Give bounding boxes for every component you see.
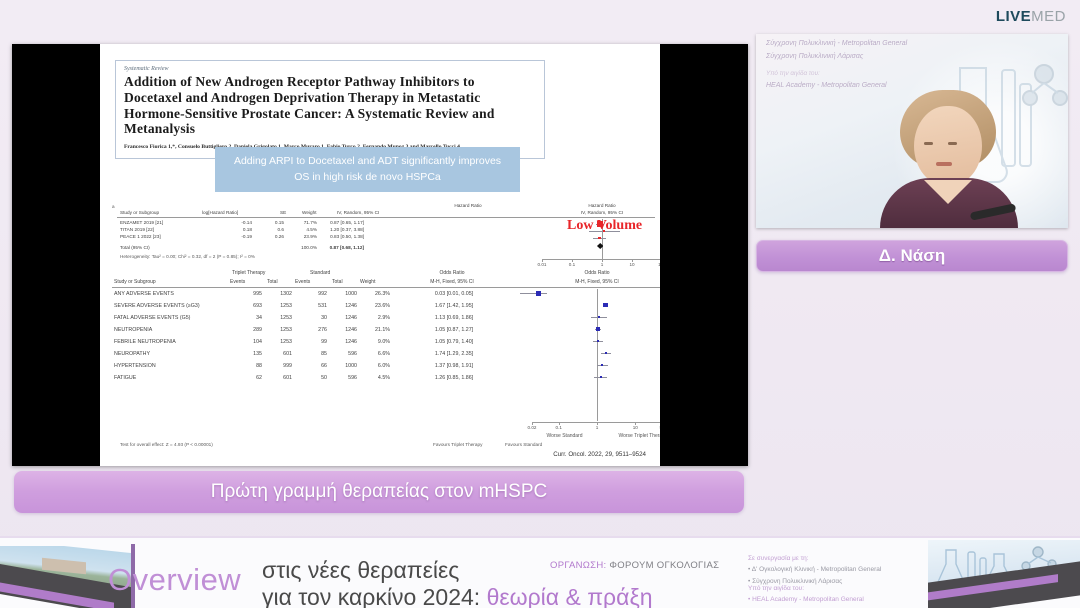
video-overlay-text: Σύγχρονη Πολυκλινική - Metropolitan Gene…	[766, 38, 907, 92]
fp2-col-head-study: Study or Subgroup	[114, 279, 156, 285]
footer-organizer-label: ΟΡΓΑΝΩΣΗ:	[550, 560, 609, 571]
fp2-cell-label: ANY ADVERSE EVENTS	[114, 291, 174, 297]
fp1-total-ci: 0.87 [0.68, 1.12]	[304, 245, 364, 250]
fp1-col-head-se: SE	[280, 210, 286, 215]
low-volume-annotation: Low Volume	[567, 218, 642, 234]
fp2-col-head-total1: Total	[267, 279, 278, 285]
fp2-col-head-events1: Events	[230, 279, 245, 285]
fp1-axis-tick-label: 10	[629, 262, 634, 267]
overlay-line-0: Σύγχρονη Πολυκλινική - Metropolitan Gene…	[766, 38, 907, 51]
speaker-mouth	[936, 162, 952, 166]
footer-line2-a: για τον καρκίνο 2024:	[262, 584, 487, 608]
fp1-row: TITAN 2019 [22]0.180.64.5%1.20 [0.37, 3.…	[112, 227, 412, 234]
fp2-plot-head-ci: M-H, Fixed, 95% CI	[532, 279, 660, 285]
fp1-cell-label: ENZAMET 2019 [21]	[120, 220, 163, 225]
fp2-marker	[596, 327, 600, 331]
fp2-marker	[605, 352, 607, 354]
fp2-cell-label: FATIGUE	[114, 375, 136, 381]
fp1-cell-label: TITAN 2019 [22]	[120, 227, 154, 232]
fp1-col-head-loghr: log[Hazard Ratio]	[202, 210, 238, 215]
fp2-marker	[536, 291, 541, 296]
overlay-line-2: Υπό την αιγίδα του:	[766, 68, 907, 80]
fp2-cell-ci: 0.03 [0.01, 0.05]	[404, 291, 504, 297]
livemed-logo: LIVEMED	[996, 8, 1066, 25]
speaker-eye-right	[948, 142, 957, 145]
fp2-col-head-measure: Odds Ratio	[402, 270, 502, 276]
footer-banner: Overview στις νέες θεραπείες για τον καρ…	[0, 536, 1080, 608]
fp2-plot-head-measure: Odds Ratio	[532, 270, 660, 276]
speaker-nameplate: Δ. Νάση	[756, 240, 1068, 272]
fp2-col-head-events2: Events	[295, 279, 310, 285]
fp2-cell-weight: 9.0%	[344, 339, 390, 345]
fp2-axis-tick-label: 1	[596, 425, 599, 430]
fp2-marker	[603, 303, 608, 308]
fp2-cell-weight: 26.3%	[344, 291, 390, 297]
fp1-marker	[598, 237, 600, 239]
fp2-header-rule	[112, 287, 660, 288]
fp2-axis-label-right: Worse Triplet Therapy	[599, 433, 660, 439]
footer-line2-b: θεωρία & πράξη	[487, 584, 653, 608]
table-row: NEUROPATHY135601855966.6%1.74 [1.29, 2.3…	[112, 351, 532, 363]
fp2-cell-label: FATAL ADVERSE EVENTS (G5)	[114, 315, 190, 321]
fp2-cell-label: SEVERE ADVERSE EVENTS (≥G3)	[114, 303, 200, 309]
fp2-group-head-triplet: Triplet Therapy	[232, 270, 265, 276]
fp2-cell-ci: 1.26 [0.85, 1.86]	[404, 375, 504, 381]
fp2-cell-ci: 1.67 [1.42, 1.95]	[404, 303, 504, 309]
fp2-axis-label-left: Worse Standard	[532, 433, 597, 439]
table-row: SEVERE ADVERSE EVENTS (≥G3)6931253531124…	[112, 303, 532, 315]
fp2-cell-label: NEUTROPENIA	[114, 327, 152, 333]
fp1-total-label: Total (95% CI)	[120, 245, 150, 250]
footer-lab-image	[928, 540, 1080, 608]
fp2-cell-ci: 1.13 [0.69, 1.86]	[404, 315, 504, 321]
fp2-cell-label: HYPERTENSION	[114, 363, 156, 369]
table-row: FATAL ADVERSE EVENTS (G5)3412533012462.9…	[112, 315, 532, 327]
speaker-name: Δ. Νάση	[879, 246, 945, 266]
speaker-face	[914, 106, 982, 186]
fp2-axis-tick-label: 0.02	[528, 425, 537, 430]
paper-title: Addition of New Androgen Receptor Pathwa…	[124, 74, 536, 137]
fp1-row: ENZAMET 2019 [21]-0.140.1571.7%0.87 [0.6…	[112, 220, 412, 227]
footer-auspices: Υπό την αιγίδα του: • HEAL Academy - Met…	[748, 583, 864, 606]
fp2-axis-tick-label: 10	[633, 425, 638, 430]
fp2-col-head-total2: Total	[332, 279, 343, 285]
speaker-figure	[874, 90, 1024, 228]
fp1-cell-ci_text: 1.20 [0.37, 3.88]	[304, 227, 364, 232]
overlay-line-1: Σύγχρονη Πολυκλινική Λάρισας	[766, 51, 907, 64]
fp2-cell-ci: 1.05 [0.87, 1.27]	[404, 327, 504, 333]
low-volume-text: Low Volume	[567, 218, 642, 233]
fp2-cell-weight: 21.1%	[344, 327, 390, 333]
test-overall-effect: Test for overall effect: Z = 4.93 (P < 0…	[120, 442, 213, 447]
fp1-cell-label: PEACE 1 2022 [23]	[120, 234, 161, 239]
session-title-bar: Πρώτη γραμμή θεραπείας στον mHSPC	[14, 471, 744, 513]
fp2-cell-weight: 23.6%	[344, 303, 390, 309]
fp2-null-line	[597, 289, 598, 421]
fp2-axis-tick-label: 0.1	[556, 425, 562, 430]
footer-coop-label: Σε συνεργασία με τη:	[748, 553, 881, 564]
footer-auspices-label: Υπό την αιγίδα του:	[748, 583, 864, 594]
table-row: ANY ADVERSE EVENTS9951302992100026.3%0.0…	[112, 291, 532, 303]
fp2-cell-weight: 2.9%	[344, 315, 390, 321]
speaker-video[interactable]: Σύγχρονη Πολυκλινική - Metropolitan Gene…	[756, 34, 1068, 228]
fp2-cell-ci: 1.37 [0.98, 1.91]	[404, 363, 504, 369]
fp2-axis-tick-label: 50	[659, 425, 660, 430]
table-row: FEBRILE NEUTROPENIA10412539912469.0%1.05…	[112, 339, 532, 351]
fp1-row: PEACE 1 2022 [23]-0.190.2623.9%0.83 [0.5…	[112, 234, 412, 241]
session-title-text: Πρώτη γραμμή θεραπείας στον mHSPC	[211, 481, 547, 503]
fp2-marker	[601, 364, 603, 366]
fp2-col-head-weight: Weight	[360, 279, 375, 285]
fp2-marker	[597, 340, 599, 342]
footer-organizer: ΟΡΓΑΝΩΣΗ: ΦΟΡΟΥΜ ΟΓΚΟΛΟΓΙΑΣ	[550, 560, 719, 571]
key-message-callout: Adding ARPI to Docetaxel and ADT signifi…	[215, 147, 520, 192]
fp1-cell-ci_text: 0.83 [0.50, 1.38]	[304, 234, 364, 239]
fp1-col-head-weight: Weight	[302, 210, 317, 215]
fp1-axis-tick-label: 0.1	[569, 262, 575, 267]
fp2-cell-weight: 6.0%	[344, 363, 390, 369]
fp2-col-head-ci: M-H, Fixed, 95% CI	[402, 279, 502, 285]
fp2-cell-weight: 4.5%	[344, 375, 390, 381]
table-row: HYPERTENSION889996610006.0%1.37 [0.98, 1…	[112, 363, 532, 375]
fp2-plot-area	[532, 289, 660, 419]
fp1-axis-tick-label: 1	[601, 262, 604, 267]
fp2-marker	[600, 376, 602, 378]
fp1-plot-head-measure: Hazard Ratio	[542, 203, 660, 208]
fp2-group-head-standard: Standard	[310, 270, 330, 276]
footer-coop-item-0: • Δ' Ογκολογική Κλινική - Metropolitan G…	[748, 564, 881, 575]
fp2-cell-label: FEBRILE NEUTROPENIA	[114, 339, 176, 345]
fp1-heterogeneity: Heterogeneity: Tau² = 0.00; Chi² = 0.32,…	[120, 254, 255, 259]
footer-overview-title: Overview	[108, 562, 241, 598]
paper-header-box: Systematic Review Addition of New Androg…	[115, 60, 545, 159]
presentation-slide: Systematic Review Addition of New Androg…	[100, 44, 660, 466]
fp1-col-head-study: Study or Subgroup	[120, 210, 159, 215]
fp2-marker	[598, 316, 600, 318]
logo-live-text: LIVE	[996, 8, 1031, 25]
footer-subtitle-line2: για τον καρκίνο 2024: θεωρία & πράξη	[262, 584, 653, 608]
fp1-axis-tick-label: 100	[658, 262, 660, 267]
fp2-cell-ci: 1.05 [0.79, 1.40]	[404, 339, 504, 345]
fp2-axis-line	[532, 422, 660, 423]
footer-auspices-item-0: • HEAL Academy - Metropolitan General	[748, 594, 864, 605]
favours-right-label: Favours Standard	[505, 442, 542, 447]
footer-organizer-value: ΦΟΡΟΥΜ ΟΓΚΟΛΟΓΙΑΣ	[609, 560, 719, 571]
favours-left-label: Favours Triplet Therapy	[433, 442, 482, 447]
panel-letter-a: a	[112, 204, 115, 209]
fp1-axis-tick-label: 0.01	[538, 262, 547, 267]
fp1-col-head-measure: Hazard Ratio	[408, 203, 528, 208]
table-row: FATIGUE62601505964.5%1.26 [0.85, 1.86]	[112, 375, 532, 387]
fp1-total-row: Total (95% CI)100.0%0.87 [0.68, 1.12]	[112, 245, 432, 252]
footer-cooperation: Σε συνεργασία με τη: • Δ' Ογκολογική Κλι…	[748, 553, 881, 587]
footer-subtitle-line1: στις νέες θεραπείες	[262, 557, 459, 584]
fp1-col-head-ci: IV, Random, 95% CI	[337, 210, 379, 215]
top-bar: LIVEMED	[0, 0, 1080, 32]
speaker-eye-left	[924, 142, 933, 145]
fp2-cell-weight: 6.6%	[344, 351, 390, 357]
fp1-axis-line	[542, 259, 660, 260]
logo-med-text: MED	[1031, 8, 1066, 25]
fp1-plot-head-ci: IV, Random, 95% CI	[542, 210, 660, 215]
screen-share-region[interactable]: Systematic Review Addition of New Androg…	[12, 44, 748, 466]
slide-citation: Curr. Oncol. 2022, 29, 9511–9524	[553, 451, 646, 458]
fp1-cell-ci_text: 0.87 [0.65, 1.17]	[304, 220, 364, 225]
fp2-cell-ci: 1.74 [1.29, 2.35]	[404, 351, 504, 357]
table-row: NEUTROPENIA2891253276124621.1%1.05 [0.87…	[112, 327, 532, 339]
app-root: LIVEMED Systematic Review Addition of Ne…	[0, 0, 1080, 608]
fp2-ci-line	[520, 293, 547, 294]
paper-kicker: Systematic Review	[124, 66, 536, 72]
forest-plot-hazard-ratio: a Hazard Ratio Hazard Ratio Study or Sub…	[112, 204, 660, 266]
fp2-cell-label: NEUROPATHY	[114, 351, 150, 357]
